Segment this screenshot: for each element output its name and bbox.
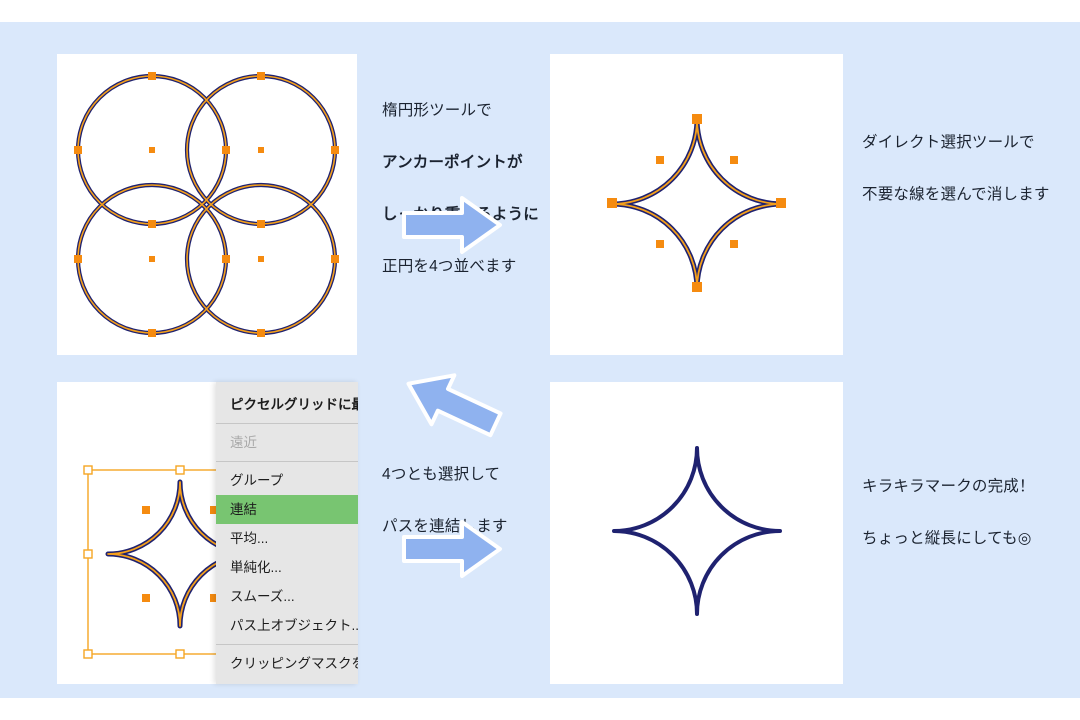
menu-item-object-on-path[interactable]: パス上オブジェクト...: [216, 611, 358, 640]
four-circles-artboard: [57, 54, 357, 355]
sparkle-path-orange: [612, 119, 782, 289]
menu-item-compound-path[interactable]: 複合パスを作成: [216, 678, 358, 684]
arrow-right-step1: [398, 192, 506, 263]
menu-item-clipping-mask[interactable]: クリッピングマスクを: [216, 649, 358, 678]
sparkle-anchors-svg: [550, 54, 843, 355]
arrow-up-left-step2: [398, 368, 506, 445]
caption-step-1: 楕円形ツールで アンカーポイントが しっかり重なるように 正円を4つ並べます: [382, 72, 562, 306]
sparkle-outline-navy: [612, 119, 782, 289]
caption-line: ちょっと縦長にしても◎: [862, 526, 1077, 552]
caption-step-4: キラキラマークの完成！ ちょっと縦長にしても◎: [862, 448, 1077, 578]
arrow-right-step3: [398, 516, 506, 587]
final-sparkle-artboard: [550, 382, 843, 684]
anchor-points-group: [74, 72, 339, 337]
menu-top-pad: [216, 382, 358, 390]
arrow-right-icon: [404, 198, 500, 252]
illustration-page: ピクセルグリッドに最 遠近 グループ 連結 平均... 単純化... スムーズ.…: [0, 0, 1080, 720]
context-menu[interactable]: ピクセルグリッドに最 遠近 グループ 連結 平均... 単純化... スムーズ.…: [216, 382, 358, 684]
sparkle-with-anchors-artboard: [550, 54, 843, 355]
menu-separator: [216, 644, 358, 645]
caption-line: キラキラマークの完成！: [862, 474, 1077, 500]
caption-line: 楕円形ツールで: [382, 98, 562, 124]
inner-anchor-points: [142, 506, 218, 602]
menu-item-smooth[interactable]: スムーズ...: [216, 582, 358, 611]
arrow-right-icon: [404, 522, 500, 576]
menu-item-simplify[interactable]: 単純化...: [216, 553, 358, 582]
sparkle-outline: [614, 448, 780, 614]
arrow-up-left-icon: [398, 368, 506, 440]
menu-item-join[interactable]: 連結: [216, 495, 358, 524]
caption-line: 4つとも選択して: [382, 462, 562, 488]
caption-line: アンカーポイントが: [382, 150, 562, 176]
menu-separator: [216, 461, 358, 462]
menu-item-perspective: 遠近: [216, 428, 358, 457]
caption-step-2: ダイレクト選択ツールで 不要な線を選んで消します: [862, 104, 1077, 234]
final-sparkle-svg: [550, 382, 843, 684]
menu-item-average[interactable]: 平均...: [216, 524, 358, 553]
menu-item-group[interactable]: グループ: [216, 466, 358, 495]
caption-line: ダイレクト選択ツールで: [862, 130, 1077, 156]
caption-line: 不要な線を選んで消します: [862, 182, 1077, 208]
menu-item-pixel-grid[interactable]: ピクセルグリッドに最: [216, 390, 358, 419]
four-circles-svg: [57, 54, 357, 355]
menu-separator: [216, 423, 358, 424]
